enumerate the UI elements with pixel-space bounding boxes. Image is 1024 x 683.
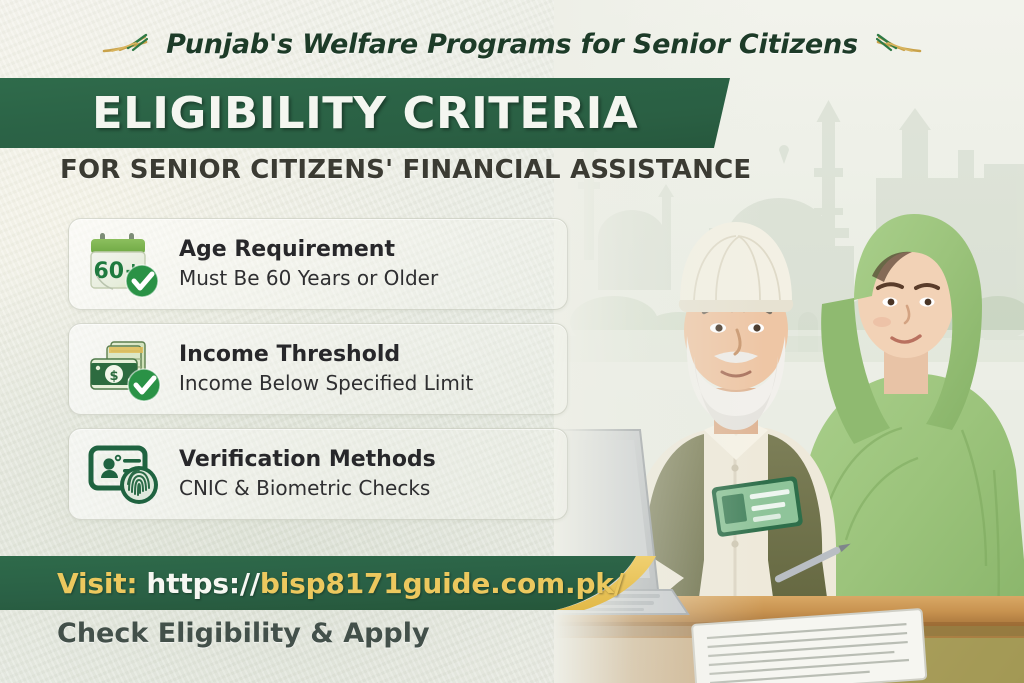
website-url[interactable]: Visit: https:// bisp8171guide.com.pk/ xyxy=(57,556,624,610)
url-scheme: https:// xyxy=(146,567,259,600)
calendar-60plus-icon: 60+ xyxy=(87,228,165,300)
criteria-card-verification: Verification Methods CNIC & Biometric Ch… xyxy=(68,428,568,520)
wheat-sprig-icon xyxy=(876,33,922,55)
svg-text:$: $ xyxy=(109,369,118,384)
infographic-poster: Punjab's Welfare Programs for Senior Cit… xyxy=(0,0,1024,683)
eyebrow-title: Punjab's Welfare Programs for Senior Cit… xyxy=(166,29,858,60)
wheat-sprig-icon xyxy=(102,33,148,55)
cta-text: Check Eligibility & Apply xyxy=(57,618,430,649)
visit-label: Visit: xyxy=(57,567,137,600)
id-card-icon xyxy=(87,438,165,510)
criteria-card-text: Income Threshold Income Below Specified … xyxy=(179,342,473,396)
url-banner[interactable]: Visit: https:// bisp8171guide.com.pk/ xyxy=(0,556,660,610)
criteria-card-text: Age Requirement Must Be 60 Years or Olde… xyxy=(179,237,438,291)
criteria-subtitle: Must Be 60 Years or Older xyxy=(179,265,438,291)
money-stack-icon: $ xyxy=(87,333,165,405)
title-banner: ELIGIBILITY CRITERIA xyxy=(0,78,730,148)
criteria-title: Age Requirement xyxy=(179,237,438,263)
criteria-card-age: 60+ Age Requirement Must Be 60 Years or … xyxy=(68,218,568,310)
page-subtitle: FOR SENIOR CITIZENS' FINANCIAL ASSISTANC… xyxy=(60,155,751,185)
criteria-subtitle: Income Below Specified Limit xyxy=(179,370,473,396)
url-host: bisp8171guide.com.pk/ xyxy=(260,567,624,600)
criteria-list: 60+ Age Requirement Must Be 60 Years or … xyxy=(68,218,568,520)
page-title: ELIGIBILITY CRITERIA xyxy=(92,88,638,139)
criteria-card-text: Verification Methods CNIC & Biometric Ch… xyxy=(179,447,436,501)
criteria-title: Verification Methods xyxy=(179,447,436,473)
eyebrow-header: Punjab's Welfare Programs for Senior Cit… xyxy=(0,20,1024,68)
criteria-title: Income Threshold xyxy=(179,342,473,368)
criteria-subtitle: CNIC & Biometric Checks xyxy=(179,475,436,501)
criteria-card-income: $ Income Threshold Income Below Specifie… xyxy=(68,323,568,415)
